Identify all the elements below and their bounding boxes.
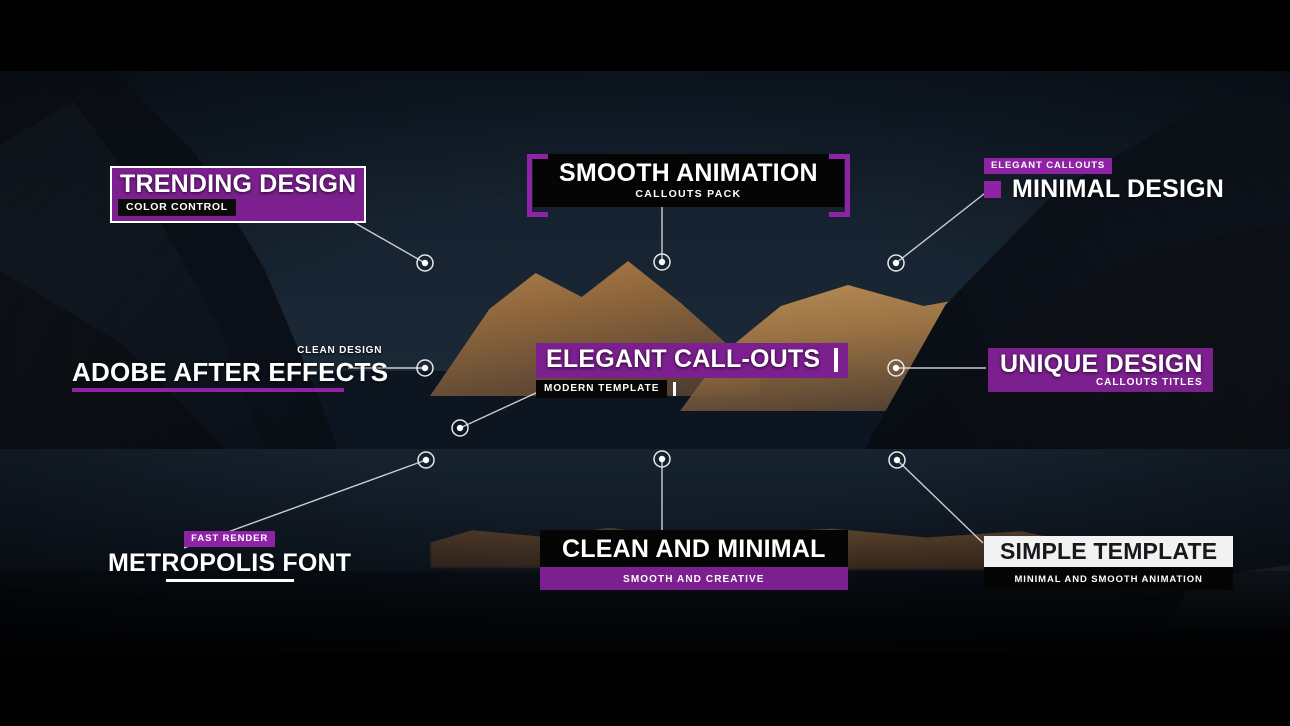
callout-subtitle: SMOOTH AND CREATIVE	[623, 574, 764, 585]
underline-bar	[166, 579, 294, 582]
callout-metropolis-font[interactable]: FAST RENDER METROPOLIS FONT	[108, 528, 351, 582]
callout-subtitle-strip: MINIMAL AND SMOOTH ANIMATION	[984, 567, 1233, 590]
letterbox-bar-top	[0, 0, 1290, 71]
callout-subtitle: MODERN TEMPLATE	[536, 380, 667, 398]
callout-box: UNIQUE DESIGN CALLOUTS TITLES	[988, 348, 1213, 392]
callout-title: SIMPLE TEMPLATE	[1000, 538, 1217, 564]
callout-subtitle: CALLOUTS TITLES	[1000, 377, 1203, 388]
callout-box: CLEAN AND MINIMAL	[540, 530, 848, 567]
callout-title: METROPOLIS FONT	[108, 549, 351, 577]
callout-adobe-after-effects[interactable]: CLEAN DESIGN ADOBE AFTER EFFECTS	[72, 340, 388, 392]
callout-subtitle: COLOR CONTROL	[118, 199, 236, 216]
callout-simple-template[interactable]: SIMPLE TEMPLATE MINIMAL AND SMOOTH ANIMA…	[984, 536, 1233, 590]
callout-title: ELEGANT CALL-OUTS	[546, 346, 820, 373]
callout-elegant-call-outs[interactable]: ELEGANT CALL-OUTS MODERN TEMPLATE	[536, 343, 848, 398]
text-cursor-icon	[834, 348, 838, 372]
callout-trending-design[interactable]: TRENDING DESIGN COLOR CONTROL	[110, 166, 366, 223]
callout-title: TRENDING DESIGN	[118, 171, 358, 197]
callout-title: SMOOTH ANIMATION	[559, 160, 818, 187]
bracket-right-icon	[829, 154, 850, 217]
callout-title: ADOBE AFTER EFFECTS	[72, 358, 388, 386]
callout-subtitle-bar: MODERN TEMPLATE	[536, 380, 676, 398]
callout-title: UNIQUE DESIGN	[1000, 351, 1203, 378]
callout-box: SMOOTH ANIMATION CALLOUTS PACK	[533, 154, 844, 207]
callout-subtitle: ELEGANT CALLOUTS	[984, 158, 1112, 174]
video-preview-stage: TRENDING DESIGN COLOR CONTROL SMOOTH ANI…	[0, 0, 1290, 726]
callout-title: CLEAN AND MINIMAL	[562, 536, 826, 563]
underline-bar	[72, 388, 344, 392]
callout-unique-design[interactable]: UNIQUE DESIGN CALLOUTS TITLES	[988, 348, 1213, 392]
callout-box: SIMPLE TEMPLATE	[984, 536, 1233, 567]
text-cursor-small-icon	[673, 382, 676, 396]
callout-minimal-design[interactable]: ELEGANT CALLOUTS MINIMAL DESIGN	[984, 155, 1224, 202]
callout-frame: TRENDING DESIGN COLOR CONTROL	[110, 166, 366, 223]
callout-clean-and-minimal[interactable]: CLEAN AND MINIMAL SMOOTH AND CREATIVE	[540, 530, 848, 590]
callout-subtitle-strip: SMOOTH AND CREATIVE	[540, 567, 848, 590]
callout-title: MINIMAL DESIGN	[1012, 176, 1224, 202]
callout-subtitle: CALLOUTS PACK	[559, 188, 818, 200]
bracket-left-icon	[527, 154, 548, 217]
callout-title-row: MINIMAL DESIGN	[984, 176, 1224, 202]
callout-subtitle: CLEAN DESIGN	[297, 345, 382, 356]
letterbox-bar-bottom	[0, 654, 1290, 726]
square-bullet-icon	[984, 181, 1001, 198]
callout-smooth-animation[interactable]: SMOOTH ANIMATION CALLOUTS PACK	[533, 154, 844, 207]
callout-subtitle: MINIMAL AND SMOOTH ANIMATION	[1014, 574, 1202, 585]
callout-subtitle: FAST RENDER	[184, 531, 275, 547]
callout-subtitle-row: CLEAN DESIGN	[72, 340, 388, 358]
callout-title-bar: ELEGANT CALL-OUTS	[536, 343, 848, 378]
